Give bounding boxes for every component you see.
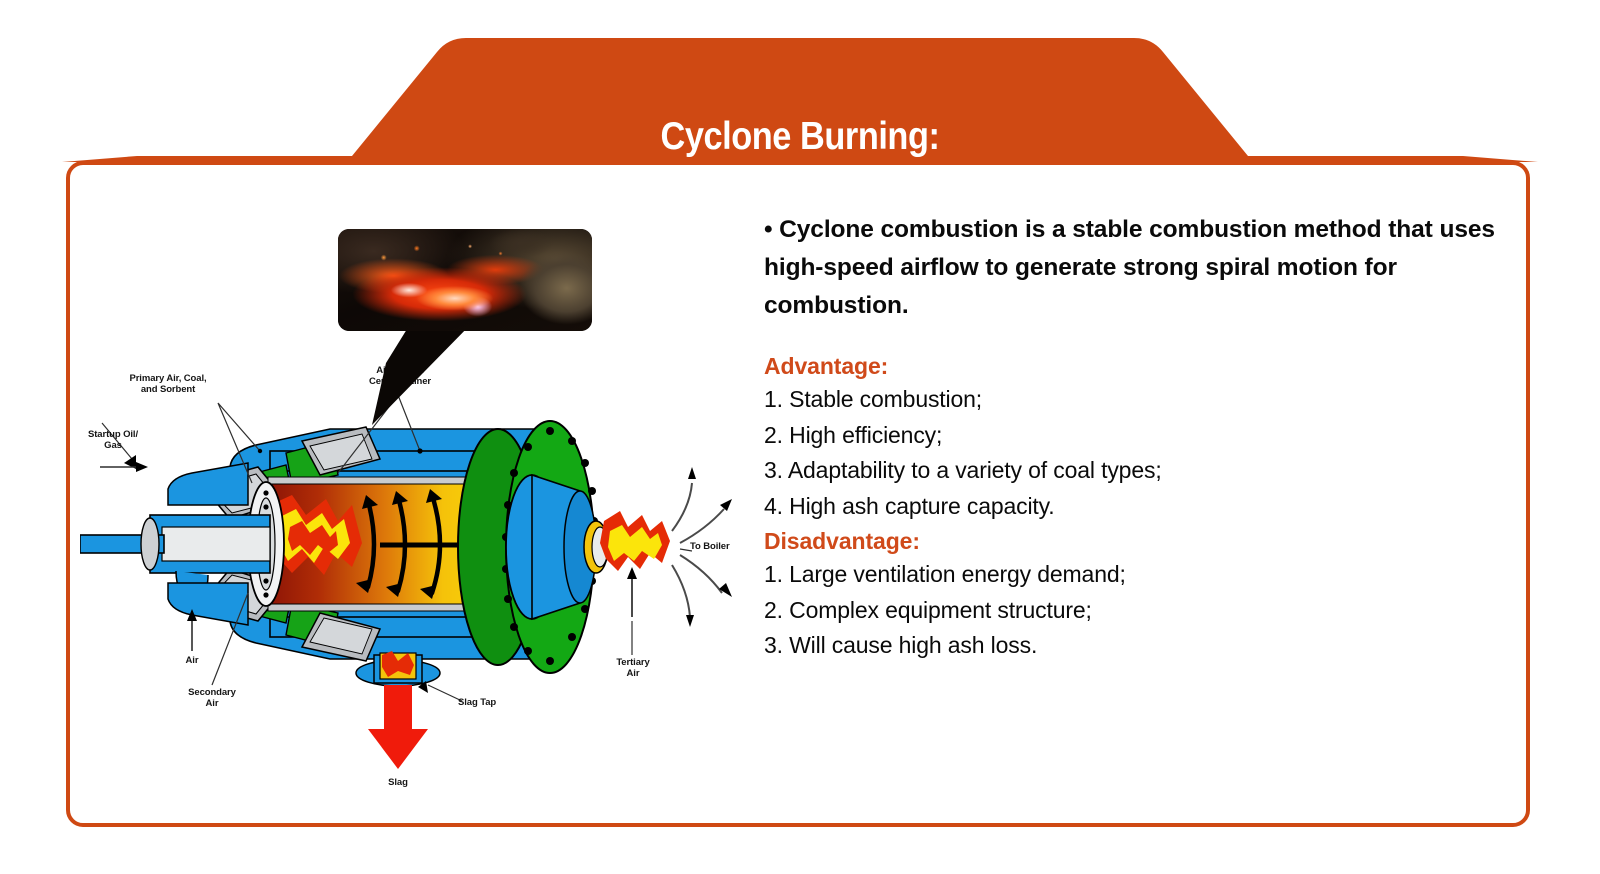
- list-item: 1. Large ventilation energy demand;: [764, 557, 1504, 593]
- list-item: 3. Adaptability to a variety of coal typ…: [764, 453, 1504, 489]
- label-primary-air: Primary Air, Coal, and Sorbent: [108, 373, 228, 395]
- label-slag: Slag: [372, 777, 424, 788]
- page-title: Cyclone Burning:: [96, 114, 1504, 160]
- label-slag-tap: Slag Tap: [458, 697, 524, 708]
- figure-column: Primary Air, Coal, and Sorbent Air-Coole…: [70, 165, 770, 823]
- callout-bubble: [338, 229, 592, 331]
- header-banner: Cyclone Burning:: [0, 38, 1600, 168]
- callout-tail-icon: [356, 321, 476, 431]
- list-item: 4. High ash capture capacity.: [764, 489, 1504, 525]
- list-item: 1. Stable combustion;: [764, 382, 1504, 418]
- content-card: Primary Air, Coal, and Sorbent Air-Coole…: [66, 161, 1530, 827]
- label-to-boiler: To Boiler: [690, 541, 760, 552]
- slide-canvas: Cyclone Burning:: [0, 0, 1600, 874]
- description-column: • Cyclone combustion is a stable combust…: [764, 211, 1504, 664]
- list-item: 2. High efficiency;: [764, 418, 1504, 454]
- advantage-heading: Advantage:: [764, 351, 1504, 382]
- label-air: Air: [170, 655, 214, 666]
- ember-photo: [338, 229, 592, 331]
- label-tertiary-air: Tertiary Air: [602, 657, 664, 679]
- intro-paragraph: • Cyclone combustion is a stable combust…: [764, 211, 1504, 325]
- list-item: 3. Will cause high ash loss.: [764, 628, 1504, 664]
- slag-arrow-icon: [368, 685, 428, 769]
- disadvantage-heading: Disadvantage:: [764, 526, 1504, 557]
- label-secondary-air: Secondary Air: [162, 687, 262, 709]
- label-startup-oil-gas: Startup Oil/ Gas: [74, 429, 152, 451]
- exit-flame-icon: [600, 511, 670, 571]
- advantage-list: 1. Stable combustion; 2. High efficiency…: [764, 382, 1504, 524]
- disadvantage-list: 1. Large ventilation energy demand; 2. C…: [764, 557, 1504, 664]
- list-item: 2. Complex equipment structure;: [764, 593, 1504, 629]
